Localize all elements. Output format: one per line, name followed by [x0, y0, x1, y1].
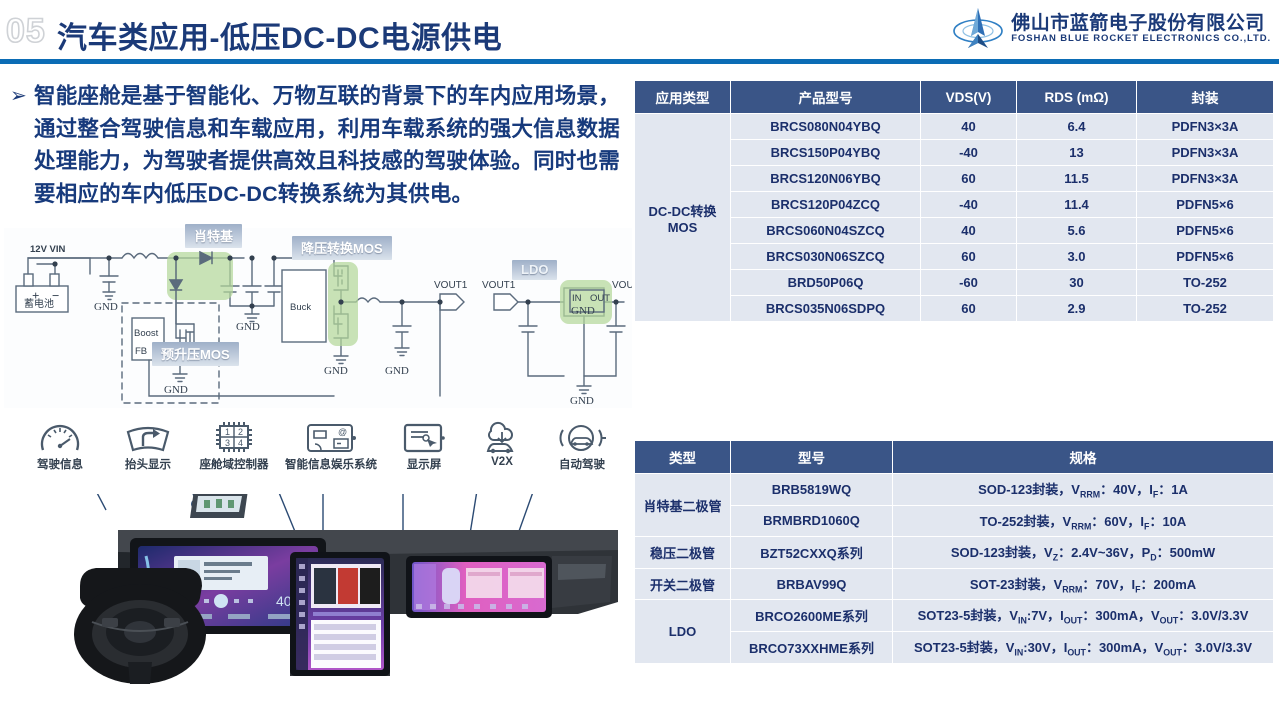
vds-cell: 40 — [921, 114, 1017, 140]
col-type: 类型 — [635, 441, 731, 474]
table-row: DC-DC转换MOSBRCS080N04YBQ406.4PDFN3×3A — [635, 114, 1274, 140]
model-cell: BRMBRD1060Q — [731, 505, 893, 537]
feature-icon-row: 驾驶信息 抬头显示 — [8, 420, 638, 478]
model-cell: BRCS150P04YBQ — [731, 140, 921, 166]
badge-preboost-mos: 预升压MOS — [152, 342, 239, 366]
svg-text:GND: GND — [164, 384, 188, 396]
vds-cell: -60 — [921, 270, 1017, 296]
svg-text:+: + — [32, 288, 39, 303]
rds-cell: 13 — [1017, 140, 1137, 166]
feature-autodrive: 自动驾驶 — [538, 420, 626, 472]
svg-text:OUT: OUT — [590, 293, 610, 304]
model-cell: BRD50P06Q — [731, 270, 921, 296]
feature-gauge: 驾驶信息 — [16, 420, 104, 472]
col-app-type: 应用类型 — [635, 81, 731, 114]
vds-cell: -40 — [921, 140, 1017, 166]
mos-category-line2: MOS — [668, 220, 698, 235]
col-model: 产品型号 — [731, 81, 921, 114]
diode-category-cell: 开关二极管 — [635, 568, 731, 600]
badge-buck-mos: 降压转换MOS — [292, 236, 392, 260]
diode-category-cell: 稳压二极管 — [635, 537, 731, 569]
feature-label: 驾驶信息 — [16, 456, 104, 472]
col-spec: 规格 — [893, 441, 1274, 474]
model-cell: BRCS030N06SZCQ — [731, 244, 921, 270]
spec-cell: SOD-123封装，VRRM：40V，IF：1A — [893, 474, 1274, 506]
table-row: BRCS120P04ZCQ-4011.4PDFN5×6 — [635, 192, 1274, 218]
svg-text:GND: GND — [236, 321, 260, 333]
table-row: 肖特基二极管BRB5819WQSOD-123封装，VRRM：40V，IF：1A — [635, 474, 1274, 506]
model-cell: BRCO73XXHME系列 — [731, 631, 893, 663]
spec-cell: SOD-123封装，VZ：2.4V~36V，PD：500mW — [893, 537, 1274, 569]
model-cell: BRCS035N06SDPQ — [731, 296, 921, 322]
v2x-icon — [458, 420, 546, 454]
infotainment-icon: @ — [276, 420, 386, 454]
svg-text:GND: GND — [324, 365, 348, 377]
svg-text:GND: GND — [385, 365, 409, 377]
page-title: 汽车类应用-低压DC-DC电源供电 — [57, 13, 502, 57]
feature-hud: 抬头显示 — [104, 420, 192, 472]
hud-icon — [104, 420, 192, 454]
model-cell: BRCS120P04ZCQ — [731, 192, 921, 218]
slide-number: 05 — [6, 12, 46, 51]
rds-cell: 11.5 — [1017, 166, 1137, 192]
mos-category-line1: DC-DC转换 — [649, 204, 717, 219]
package-cell: TO-252 — [1137, 270, 1274, 296]
rds-cell: 6.4 — [1017, 114, 1137, 140]
feature-display: 显示屏 — [380, 420, 468, 472]
model-cell: BRBAV99Q — [731, 568, 893, 600]
spec-cell: TO-252封装，VRRM：60V，IF：10A — [893, 505, 1274, 537]
svg-text:Buck: Buck — [290, 302, 311, 313]
vds-cell: -40 — [921, 192, 1017, 218]
spec-cell: SOT23-5封装，VIN:7V，IOUT：300mA，VOUT：3.0V/3.… — [893, 600, 1274, 632]
svg-text:VOUT2: VOUT2 — [612, 280, 632, 291]
table-header-row: 类型 型号 规格 — [635, 441, 1274, 474]
table-row: BRCS120N06YBQ6011.5PDFN3×3A — [635, 166, 1274, 192]
svg-text:GND: GND — [94, 301, 118, 313]
col-vds: VDS(V) — [921, 81, 1017, 114]
logo-name-cn: 佛山市蓝箭电子股份有限公司 — [1011, 14, 1271, 34]
svg-text:GND: GND — [571, 305, 595, 317]
svg-text:12V VIN: 12V VIN — [30, 244, 66, 255]
feature-label: 智能信息娱乐系统 — [276, 456, 386, 472]
col-rds: RDS (mΩ) — [1017, 81, 1137, 114]
svg-text:GND: GND — [570, 395, 594, 407]
slide-root: 05 汽车类应用-低压DC-DC电源供电 佛山市蓝箭电子股份有限公司 FOSHA… — [0, 0, 1279, 720]
package-cell: PDFN3×3A — [1137, 114, 1274, 140]
model-cell: BRCS080N04YBQ — [731, 114, 921, 140]
svg-text:@: @ — [338, 427, 347, 437]
col-package: 封装 — [1137, 81, 1274, 114]
table-row: LDOBRCO2600ME系列SOT23-5封装，VIN:7V，IOUT：300… — [635, 600, 1274, 632]
table-row: BRCS150P04YBQ-4013PDFN3×3A — [635, 140, 1274, 166]
svg-text:2: 2 — [238, 427, 243, 437]
model-cell: BRCS060N04SZCQ — [731, 218, 921, 244]
spec-cell: SOT23-5封装，VIN:30V，IOUT：300mA，VOUT：3.0V/3… — [893, 631, 1274, 663]
badge-schottky: 肖特基 — [185, 224, 242, 248]
circuit-diagram: 12V VIN 蓄电池 + − GND GND Boost FB GND Buc… — [4, 228, 632, 408]
feature-chip: 1 2 3 4 座舱域控制器 — [190, 420, 278, 472]
title-underline — [0, 59, 1279, 64]
bullet-arrow-icon: ➢ — [10, 86, 27, 106]
cockpit-photo: 40 — [18, 494, 618, 716]
model-cell: BRCS120N06YBQ — [731, 166, 921, 192]
svg-text:VOUT1: VOUT1 — [434, 280, 468, 291]
table-row: BRD50P06Q-6030TO-252 — [635, 270, 1274, 296]
feature-label: 抬头显示 — [104, 456, 192, 472]
table-row: BRCS060N04SZCQ405.6PDFN5×6 — [635, 218, 1274, 244]
package-cell: PDFN3×3A — [1137, 140, 1274, 166]
table-header-row: 应用类型 产品型号 VDS(V) RDS (mΩ) 封装 — [635, 81, 1274, 114]
gauge-icon — [16, 420, 104, 454]
col-model: 型号 — [731, 441, 893, 474]
svg-text:3: 3 — [225, 438, 230, 448]
table-row: BRCO73XXHME系列SOT23-5封装，VIN:30V，IOUT：300m… — [635, 631, 1274, 663]
intro-paragraph: 智能座舱是基于智能化、万物互联的背景下的车内应用场景，通过整合驾驶信息和车载应用… — [34, 80, 634, 211]
rds-cell: 3.0 — [1017, 244, 1137, 270]
feature-label: 显示屏 — [380, 456, 468, 472]
table-row: BRCS035N06SDPQ602.9TO-252 — [635, 296, 1274, 322]
svg-text:−: − — [52, 288, 59, 303]
model-cell: BZT52CXXQ系列 — [731, 537, 893, 569]
rds-cell: 5.6 — [1017, 218, 1137, 244]
autodrive-icon — [538, 420, 626, 454]
package-cell: PDFN5×6 — [1137, 218, 1274, 244]
rds-cell: 30 — [1017, 270, 1137, 296]
svg-text:IN: IN — [572, 293, 582, 304]
feature-v2x: V2X — [458, 420, 546, 468]
table-row: 开关二极管BRBAV99QSOT-23封装，VRRM：70V，IF：200mA — [635, 568, 1274, 600]
logo-name-en: FOSHAN BLUE ROCKET ELECTRONICS CO.,LTD. — [1011, 33, 1271, 44]
rds-cell: 11.4 — [1017, 192, 1137, 218]
package-cell: TO-252 — [1137, 296, 1274, 322]
company-logo: 佛山市蓝箭电子股份有限公司 FOSHAN BLUE ROCKET ELECTRO… — [952, 6, 1271, 52]
rds-cell: 2.9 — [1017, 296, 1137, 322]
badge-ldo: LDO — [512, 260, 557, 280]
mos-category-cell: DC-DC转换MOS — [635, 114, 731, 322]
svg-text:4: 4 — [238, 438, 243, 448]
svg-text:40: 40 — [276, 593, 292, 609]
feature-label: 自动驾驶 — [538, 456, 626, 472]
feature-label: 座舱域控制器 — [190, 456, 278, 472]
package-cell: PDFN5×6 — [1137, 192, 1274, 218]
svg-text:Boost: Boost — [134, 328, 159, 339]
mos-table: 应用类型 产品型号 VDS(V) RDS (mΩ) 封装 DC-DC转换MOSB… — [634, 80, 1274, 322]
model-cell: BRB5819WQ — [731, 474, 893, 506]
table-row: 稳压二极管BZT52CXXQ系列SOD-123封装，VZ：2.4V~36V，PD… — [635, 537, 1274, 569]
display-icon — [380, 420, 468, 454]
package-cell: PDFN5×6 — [1137, 244, 1274, 270]
svg-text:FB: FB — [135, 346, 147, 357]
table-row: BRMBRD1060QTO-252封装，VRRM：60V，IF：10A — [635, 505, 1274, 537]
vds-cell: 60 — [921, 166, 1017, 192]
feature-label: V2X — [458, 456, 546, 468]
vds-cell: 40 — [921, 218, 1017, 244]
chip-icon: 1 2 3 4 — [190, 420, 278, 454]
rocket-logo-icon — [952, 6, 1004, 52]
svg-text:VOUT1: VOUT1 — [482, 280, 516, 291]
vds-cell: 60 — [921, 296, 1017, 322]
diode-category-cell: LDO — [635, 600, 731, 663]
model-cell: BRCO2600ME系列 — [731, 600, 893, 632]
spec-cell: SOT-23封装，VRRM：70V，IF：200mA — [893, 568, 1274, 600]
table-row: BRCS030N06SZCQ603.0PDFN5×6 — [635, 244, 1274, 270]
diode-category-cell: 肖特基二极管 — [635, 474, 731, 537]
vds-cell: 60 — [921, 244, 1017, 270]
diode-table: 类型 型号 规格 肖特基二极管BRB5819WQSOD-123封装，VRRM：4… — [634, 440, 1274, 664]
svg-text:1: 1 — [225, 427, 230, 437]
package-cell: PDFN3×3A — [1137, 166, 1274, 192]
feature-infotainment: @ 智能信息娱乐系统 — [276, 420, 386, 472]
